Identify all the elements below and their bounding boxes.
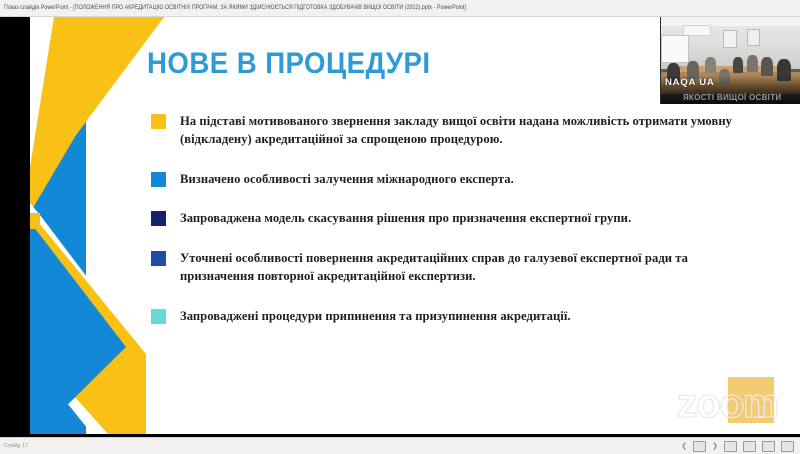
normal-view-icon[interactable] [693,441,706,452]
bullet-text: Уточнені особливості повернення акредита… [180,249,751,286]
video-person [747,55,758,72]
participant-name-label: NAQA UA [665,77,715,88]
list-item: На підставі мотивованого звернення закла… [151,112,751,149]
participant-video-tile[interactable]: NAQA UA ЯКОСТІ ВИЩОЇ ОСВІТИ [660,17,800,104]
notes-view-icon[interactable] [762,441,775,452]
window-title-text: Показ слайдів PowerPoint - [ПОЛОЖЕННЯ ПР… [4,5,466,12]
slideshow-icon[interactable] [781,441,794,452]
bullet-marker-amber [151,114,166,129]
slide-title: НОВЕ В ПРОЦЕДУРІ [147,47,431,81]
powerpoint-slideshow-window: Показ слайдів PowerPoint - [ПОЛОЖЕННЯ ПР… [0,0,800,454]
slideshow-stage[interactable]: НОВЕ В ПРОЦЕДУРІ На підставі мотивованог… [0,17,800,437]
chevron-graphic-icon [14,17,164,434]
list-item: Визначено особливості залучення міжнарод… [151,170,751,188]
video-wall-frame [723,30,737,48]
bullet-marker-medium-blue [151,251,166,266]
bullet-marker-blue [151,172,166,187]
list-item: Запроваджені процедури припинення та при… [151,307,751,325]
slide-sorter-icon[interactable] [724,441,737,452]
slide-decoration-chevrons [14,17,164,434]
slide-number-indicator: Слайд 17 [4,443,28,449]
bullet-marker-turquoise [151,309,166,324]
list-item: Запроваджена модель скасування рішення п… [151,209,751,227]
video-ceiling [661,17,800,26]
video-person [761,57,773,76]
zoom-watermark: zoom zoom.us [677,383,778,424]
bullet-text: Запроваджені процедури припинення та при… [180,307,571,325]
powerpoint-statusbar: Слайд 17 ❮ ❯ [0,437,800,454]
video-wall-frame [747,29,760,46]
video-whiteboard [661,35,689,63]
bullet-text: Запроваджена модель скасування рішення п… [180,209,631,227]
next-arrow-icon[interactable]: ❯ [712,443,718,450]
zoom-watermark-subtext: zoom.us [753,414,770,419]
slide-bullet-list: На підставі мотивованого звернення закла… [151,112,751,346]
bullet-text: Визначено особливості залучення міжнарод… [180,170,514,188]
video-person [733,57,743,73]
video-person [705,57,716,73]
list-item: Уточнені особливості повернення акредита… [151,249,751,286]
participant-sub-label: ЯКОСТІ ВИЩОЇ ОСВІТИ [683,93,781,102]
window-titlebar: Показ слайдів PowerPoint - [ПОЛОЖЕННЯ ПР… [0,0,800,17]
bullet-text: На підставі мотивованого звернення закла… [180,112,751,149]
previous-arrow-icon[interactable]: ❮ [681,443,687,450]
statusbar-view-controls[interactable]: ❮ ❯ [681,441,794,452]
reading-view-icon[interactable] [743,441,756,452]
bullet-marker-navy [151,211,166,226]
